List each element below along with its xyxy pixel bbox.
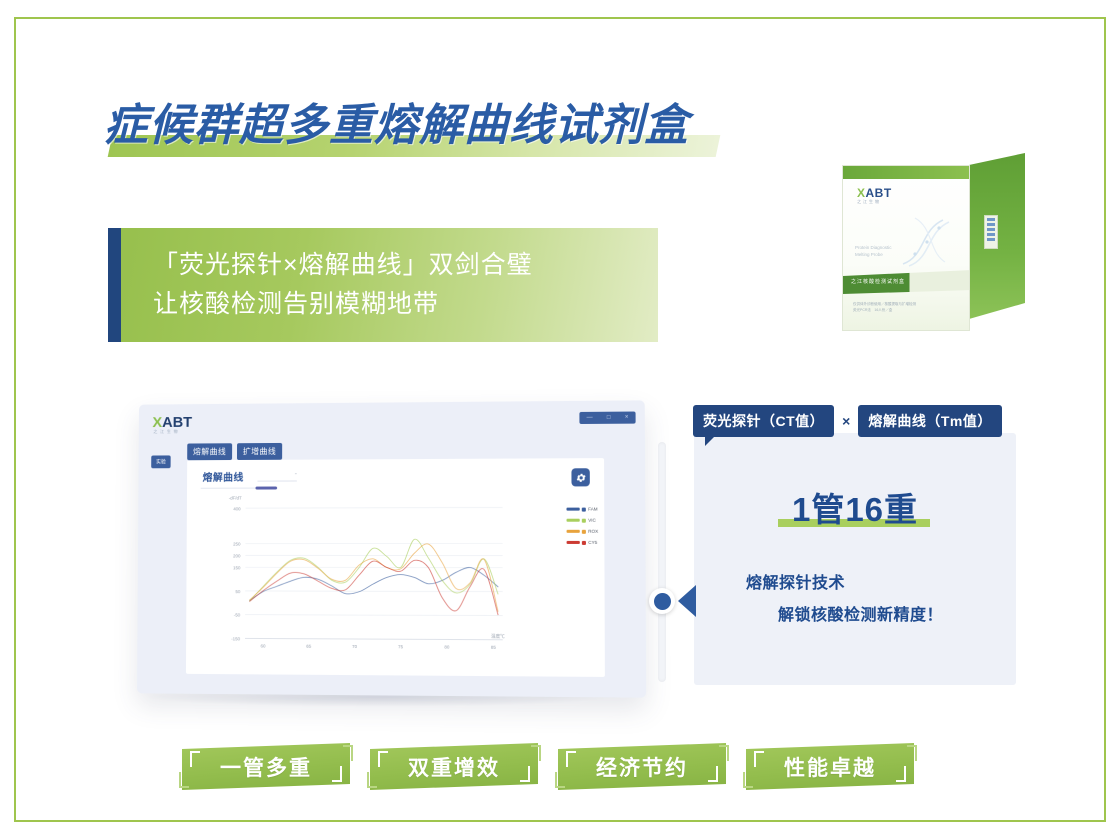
legend-label-rox: ROX bbox=[588, 529, 598, 534]
product-box-image: XABT 之江生物 Protein DiagnosticMelting Prob… bbox=[842, 153, 1028, 343]
gear-icon[interactable] bbox=[571, 468, 589, 486]
info-panel: 1管16重 熔解探针技术 解锁核酸检测新精度！ bbox=[694, 433, 1016, 685]
legend-item-rox: ROX bbox=[567, 529, 598, 534]
tab-melting-curve[interactable]: 熔解曲线 bbox=[187, 443, 232, 460]
svg-text:温度℃: 温度℃ bbox=[491, 633, 505, 640]
legend-line-rox bbox=[567, 530, 580, 533]
svg-text:50: 50 bbox=[235, 589, 240, 594]
sidebar-button-experiment[interactable]: 实验 bbox=[151, 455, 171, 468]
multiply-symbol: × bbox=[842, 413, 850, 429]
headline-number: 1管16重 bbox=[694, 483, 1016, 531]
chart-channel-select[interactable]: - bbox=[257, 472, 296, 482]
page-title: 症候群超多重熔解曲线试剂盒 bbox=[104, 97, 744, 159]
product-box-fine-print: 仅供体外诊断使用／核酸提取与扩增检测荧光PCR法 16人份／盒 bbox=[853, 302, 916, 313]
title-text: 症候群超多重熔解曲线试剂盒 bbox=[104, 97, 689, 155]
legend-label-fam: FAM bbox=[588, 507, 597, 512]
legend-item-fam: FAM bbox=[567, 507, 598, 512]
svg-text:70: 70 bbox=[352, 644, 358, 649]
legend-item-vic: VIC bbox=[567, 518, 598, 523]
info-line-2: 解锁核酸检测新精度！ bbox=[746, 600, 943, 632]
product-box-front: XABT 之江生物 Protein DiagnosticMelting Prob… bbox=[842, 165, 970, 331]
svg-text:85: 85 bbox=[491, 645, 497, 650]
legend-line-fam bbox=[567, 508, 580, 511]
logo-x-glyph: X bbox=[857, 186, 866, 200]
tab-amplification-curve[interactable]: 扩增曲线 bbox=[237, 443, 282, 460]
software-screenshot: XABT 之江生物 — □ × 实验 熔解曲线 扩增曲线 熔解曲线 - 4002… bbox=[137, 400, 646, 697]
chart-svg: 40025020015050-50-150-dF/dT606570758085温… bbox=[186, 488, 605, 673]
info-panel-pointer bbox=[678, 585, 696, 617]
legend-label-cy5: CY5 bbox=[588, 540, 597, 545]
subtitle-line-2: 让核酸检测告别模糊地带 bbox=[153, 285, 533, 324]
legend-item-cy5: CY5 bbox=[567, 540, 598, 545]
feature-badge: 经济节约 bbox=[558, 743, 726, 790]
feature-badge-row: 一管多重 双重增效 经济节约 性能卓越 bbox=[182, 743, 914, 790]
tab-bar: 熔解曲线 扩增曲线 bbox=[187, 443, 282, 460]
product-box-band-text: 之江核酸检测试剂盒 bbox=[851, 278, 905, 285]
subtitle-line-1: 「荧光探针×熔解曲线」双剑合璧 bbox=[153, 246, 533, 285]
legend-line-cy5 bbox=[567, 541, 580, 544]
tag-fluorescent-probe: 荧光探针（CT值） bbox=[693, 405, 834, 437]
vertical-slider-knob[interactable] bbox=[649, 588, 675, 614]
svg-text:80: 80 bbox=[444, 644, 450, 649]
svg-text:400: 400 bbox=[233, 506, 241, 511]
feature-badge: 双重增效 bbox=[370, 743, 538, 790]
info-line-1: 熔解探针技术 bbox=[746, 568, 943, 600]
window-controls[interactable]: — □ × bbox=[579, 412, 635, 424]
badge-label: 性能卓越 bbox=[746, 743, 914, 790]
headline-number-text: 1管16重 bbox=[786, 491, 924, 528]
svg-text:75: 75 bbox=[398, 644, 404, 649]
badge-label: 双重增效 bbox=[370, 743, 538, 790]
svg-text:200: 200 bbox=[233, 553, 241, 558]
subtitle-banner: 「荧光探针×熔解曲线」双剑合璧 让核酸检测告别模糊地带 bbox=[108, 228, 658, 342]
formula-tag-row: 荧光探针（CT值） × 熔解曲线（Tm值） bbox=[693, 405, 1002, 437]
product-box-logo: XABT bbox=[857, 186, 892, 200]
svg-text:-50: -50 bbox=[234, 613, 241, 618]
subtitle-left-edge bbox=[108, 228, 121, 342]
vertical-slider-track[interactable] bbox=[658, 442, 666, 682]
melting-curve-chart: 40025020015050-50-150-dF/dT606570758085温… bbox=[186, 488, 605, 673]
legend-label-vic: VIC bbox=[588, 518, 596, 523]
poster-page: 症候群超多重熔解曲线试剂盒 「荧光探针×熔解曲线」双剑合璧 让核酸检测告别模糊地… bbox=[14, 17, 1106, 822]
subtitle-text-block: 「荧光探针×熔解曲线」双剑合璧 让核酸检测告别模糊地带 bbox=[153, 246, 533, 324]
panel-underline bbox=[201, 488, 256, 489]
svg-text:150: 150 bbox=[233, 565, 241, 570]
feature-badge: 一管多重 bbox=[182, 743, 350, 790]
legend-dot-vic bbox=[582, 518, 586, 522]
logo-abt-text: ABT bbox=[866, 186, 892, 200]
dna-helix-icon bbox=[895, 204, 965, 274]
tag-melting-curve: 熔解曲线（Tm值） bbox=[858, 405, 1002, 437]
svg-text:250: 250 bbox=[233, 542, 241, 547]
svg-text:65: 65 bbox=[306, 644, 311, 649]
close-icon[interactable]: × bbox=[625, 415, 629, 421]
app-logo-sub: 之江生物 bbox=[153, 429, 180, 435]
product-box-subtext: Protein DiagnosticMelting Probe bbox=[855, 244, 892, 258]
maximize-icon[interactable]: □ bbox=[607, 415, 611, 421]
chart-panel: 熔解曲线 - 40025020015050-50-150-dF/dT606570… bbox=[186, 458, 605, 677]
legend-line-vic bbox=[567, 519, 580, 522]
minimize-icon[interactable]: — bbox=[587, 415, 593, 421]
legend-dot-cy5 bbox=[582, 540, 586, 544]
product-box-barcode bbox=[984, 215, 998, 249]
product-box-logo-sub: 之江生物 bbox=[857, 199, 881, 205]
legend-dot-fam bbox=[582, 507, 586, 511]
info-text-block: 熔解探针技术 解锁核酸检测新精度！ bbox=[746, 568, 943, 632]
svg-text:60: 60 bbox=[261, 643, 266, 648]
badge-label: 一管多重 bbox=[182, 743, 350, 790]
legend-dot-rox bbox=[582, 529, 586, 533]
feature-badge: 性能卓越 bbox=[746, 743, 914, 790]
chart-panel-title: 熔解曲线 bbox=[203, 469, 244, 484]
badge-label: 经济节约 bbox=[558, 743, 726, 790]
svg-text:-dF/dT: -dF/dT bbox=[229, 495, 242, 500]
product-box-top-band bbox=[843, 166, 969, 179]
svg-text:-150: -150 bbox=[231, 636, 240, 641]
chart-legend: FAM VIC ROX CY5 bbox=[567, 507, 599, 551]
